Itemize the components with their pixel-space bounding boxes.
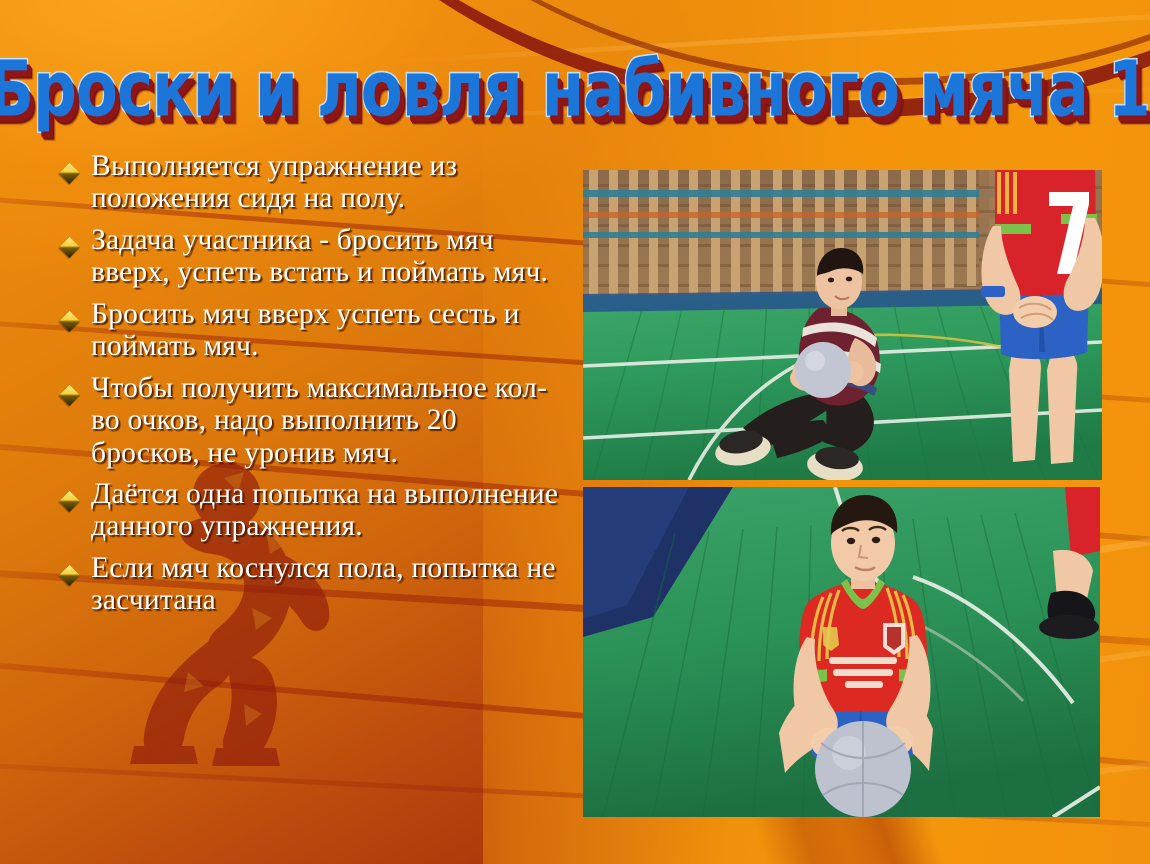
list-item-label: Задача участника - бросить мяч вверх, ус… [91, 224, 565, 289]
list-item: Если мяч коснулся пола, попытка не засчи… [57, 552, 565, 617]
bullet-list: Выполняется упражнение из положения сидя… [57, 150, 565, 626]
gold-diamond-bullet-icon [57, 235, 83, 261]
list-item-label: Если мяч коснулся пола, попытка не засчи… [91, 552, 565, 617]
list-item-label: Даётся одна попытка на выполнение данног… [91, 478, 565, 543]
photo-athlete-sitting-with-ball [583, 487, 1100, 817]
list-item-label: Выполняется упражнение из положения сидя… [91, 150, 565, 215]
gold-diamond-bullet-icon [57, 489, 83, 515]
gold-diamond-bullet-icon [57, 161, 83, 187]
list-item-label: Чтобы получить максимальное кол-во очков… [91, 372, 565, 469]
list-item: Задача участника - бросить мяч вверх, ус… [57, 224, 565, 289]
list-item: Выполняется упражнение из положения сидя… [57, 150, 565, 215]
gold-diamond-bullet-icon [57, 383, 83, 409]
list-item-label: Бросить мяч вверх успеть сесть и поймать… [91, 298, 565, 363]
list-item: Бросить мяч вверх успеть сесть и поймать… [57, 298, 565, 363]
gold-diamond-bullet-icon [57, 309, 83, 335]
list-item: Чтобы получить максимальное кол-во очков… [57, 372, 565, 469]
presentation-slide: Броски и ловля набивного мяча 1 кг. Выпо… [0, 0, 1150, 864]
gold-diamond-bullet-icon [57, 563, 83, 589]
list-item: Даётся одна попытка на выполнение данног… [57, 478, 565, 543]
photo-boy-sitting-with-ball [583, 170, 1102, 480]
slide-title-text: Броски и ловля набивного мяча 1 кг. [0, 52, 1150, 129]
slide-title: Броски и ловля набивного мяча 1 кг. [0, 60, 1150, 120]
